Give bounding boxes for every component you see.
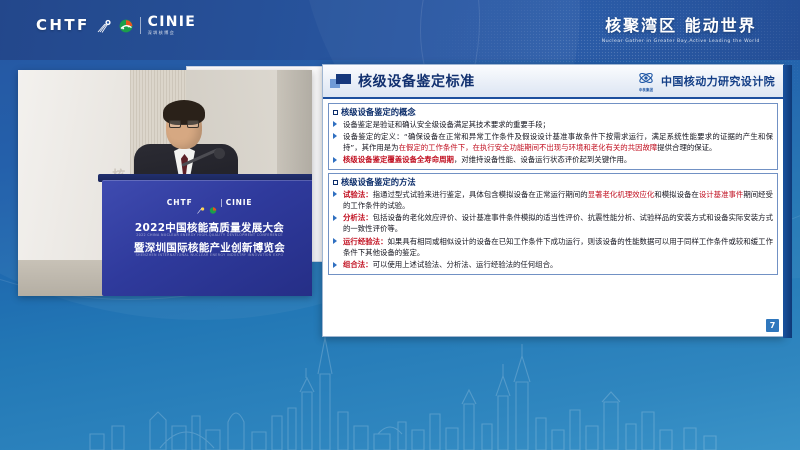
section-heading-row: 核级设备鉴定的方法: [333, 176, 773, 188]
slide-section-methods: 核级设备鉴定的方法 试验法：指通过型式试验来进行鉴定，具体包含模拟设备在正常运行…: [328, 173, 778, 275]
bullet-text: 运行经验法：如果具有相同或相似设计的设备在已知工作条件下成功运行，则该设备的性能…: [343, 237, 773, 259]
bullet-text: 分析法：包括设备的老化效应评价、设计基准事件条件模拟的适当性评价、抗震性能分析、…: [343, 213, 773, 235]
skyline-graphic: [0, 330, 800, 450]
cinie-logo-subtext: 深圳核博会: [148, 31, 196, 35]
triangle-bullet-icon: [333, 262, 340, 268]
triangle-bullet-icon: [333, 238, 340, 244]
institute-name: 中国核动力研究设计院: [661, 73, 775, 89]
bullet-item: 核级设备鉴定覆盖设备全寿命周期，对维持设备性能、设备运行状态评价起到关键作用。: [333, 155, 773, 166]
podium-chtf-text: CHTF: [167, 198, 193, 207]
presentation-slide[interactable]: 核级设备鉴定标准 中核集团 中国核动力研究设计院 核级设备鉴定的概: [322, 64, 784, 337]
bullet-text: 核级设备鉴定覆盖设备全寿命周期，对维持设备性能、设备运行状态评价起到关键作用。: [343, 155, 631, 166]
section-heading-row: 核级设备鉴定的概念: [333, 106, 773, 118]
slide-page-number-badge: 7: [766, 319, 779, 332]
bullet-item: 试验法：指通过型式试验来进行鉴定，具体包含模拟设备在正常运行期间的显著老化机理效…: [333, 190, 773, 212]
bullet-text: 设备鉴定的定义：“确保设备在正常和异常工作条件及假设设计基准事故条件下按需求运行…: [343, 132, 773, 154]
section-square-bullet-icon: [333, 110, 338, 115]
slogan-english: Nuclear Gather in Greater Bay,Active Lea…: [602, 39, 760, 44]
slide-section-concept: 核级设备鉴定的概念 设备鉴定是验证和确认安全级设备满足其技术要求的重要手段； 设…: [328, 103, 778, 170]
podium-logo-row: CHTF CINIE: [102, 198, 312, 207]
podium-title-line2-en: SHENZHEN INTERNATIONAL NUCLEAR ENERGY IN…: [102, 253, 312, 257]
section-heading-text: 核级设备鉴定的概念: [341, 106, 416, 118]
bullet-text: 设备鉴定是验证和确认安全级设备满足其技术要求的重要手段；: [343, 120, 550, 131]
event-slogan-group: 核聚湾区 能动世界 Nuclear Gather in Greater Bay,…: [602, 12, 760, 44]
cnnc-logo-text: 中核集团: [636, 87, 656, 92]
slide-right-edge: [783, 65, 792, 338]
podium-logo-divider: [221, 199, 222, 207]
bullet-item: 设备鉴定的定义：“确保设备在正常和异常工作条件及假设设计基准事故条件下按需求运行…: [333, 132, 773, 154]
podium-title-line1-en: 2022 CHINA NUCLEAR ENERGY HIGH-QUALITY D…: [102, 233, 312, 237]
section-square-bullet-icon: [333, 180, 338, 185]
speaker-glasses-icon: [169, 120, 199, 128]
triangle-bullet-icon: [333, 191, 340, 197]
cinie-logo-group: CINIE 深圳核博会: [148, 15, 196, 35]
triangle-bullet-icon: [333, 157, 340, 163]
slide-content-body: 核级设备鉴定的概念 设备鉴定是验证和确认安全级设备满足其技术要求的重要手段； 设…: [323, 99, 783, 336]
bullet-item: 设备鉴定是验证和确认安全级设备满足其技术要求的重要手段；: [333, 120, 773, 131]
podium-cinie-emblem-icon: [209, 199, 217, 206]
chtf-logo-text: CHTF: [36, 16, 90, 34]
event-logo-group: CHTF CINIE 深圳核博会: [36, 15, 196, 35]
cinie-logo-text: CINIE: [148, 15, 196, 29]
microphone-head-icon: [214, 148, 225, 159]
logo-divider: [140, 17, 141, 34]
presentation-stage: CHTF CINIE 深圳核博会 核聚: [0, 0, 800, 450]
cnnc-logo-icon: 中核集团: [636, 70, 656, 92]
slide-title-text: 核级设备鉴定标准: [358, 71, 475, 91]
bullet-text: 组合法：可以使用上述试验法、分析法、运行经验法的任何组合。: [343, 260, 557, 271]
institute-brand-group: 中核集团 中国核动力研究设计院: [636, 70, 775, 92]
slide-title-bar: 核级设备鉴定标准 中核集团 中国核动力研究设计院: [323, 65, 783, 99]
cinie-emblem-icon: [119, 18, 133, 32]
bullet-text: 试验法：指通过型式试验来进行鉴定，具体包含模拟设备在正常运行期间的显著老化机理效…: [343, 190, 773, 212]
bullet-item: 组合法：可以使用上述试验法、分析法、运行经验法的任何组合。: [333, 260, 773, 271]
bullet-item: 运行经验法：如果具有相同或相似设计的设备在已知工作条件下成功运行，则该设备的性能…: [333, 237, 773, 259]
triangle-bullet-icon: [333, 133, 340, 139]
triangle-bullet-icon: [333, 215, 340, 221]
chtf-emblem-icon: [97, 18, 112, 32]
podium-cinie-text: CINIE: [226, 198, 253, 207]
slide-title-square-icon: [330, 74, 352, 89]
section-heading-text: 核级设备鉴定的方法: [341, 176, 416, 188]
podium-sign: CHTF CINIE 2022中国核能高质量发展大会 2022 CHINA NU…: [102, 180, 312, 296]
slogan-chinese: 核聚湾区 能动世界: [602, 12, 760, 36]
podium-chtf-emblem-icon: [197, 199, 205, 206]
speaker-video-panel[interactable]: 核 CHTF CINIE 2022中国核能高质量发展大会 2022 CHINA: [18, 70, 312, 296]
bullet-item: 分析法：包括设备的老化效应评价、设计基准事件条件模拟的适当性评价、抗震性能分析、…: [333, 213, 773, 235]
triangle-bullet-icon: [333, 121, 340, 127]
